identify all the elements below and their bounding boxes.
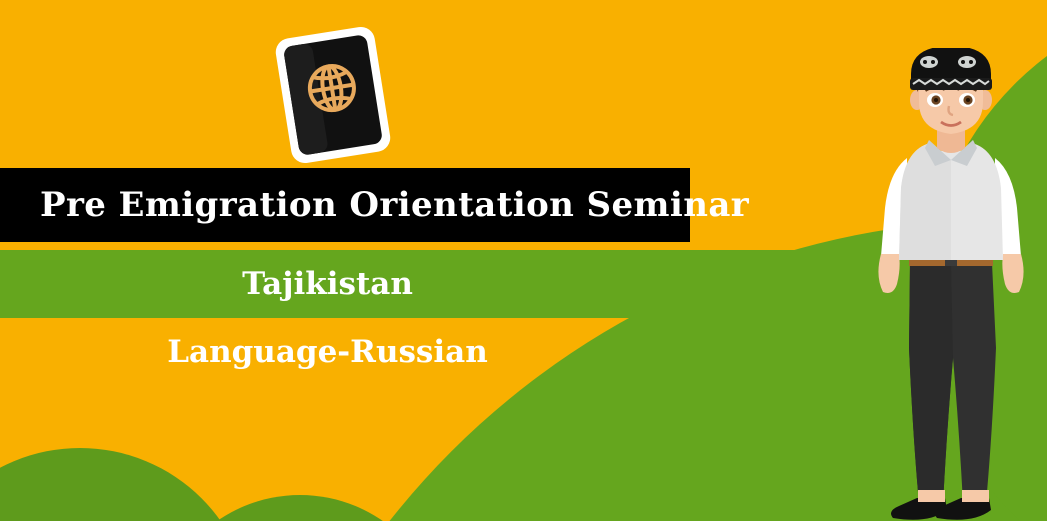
- character-pants: [909, 263, 996, 503]
- passport-icon: [271, 23, 394, 168]
- tajik-man-illustration: [855, 48, 1047, 521]
- title-banner: Pre Emigration Orientation Seminar: [0, 168, 690, 242]
- tubeteika-cap-icon: [910, 48, 992, 90]
- poster-canvas: Pre Emigration Orientation Seminar Tajik…: [0, 0, 1047, 521]
- character-ankles: [918, 490, 989, 502]
- country-label: Tajikistan: [0, 266, 655, 302]
- language-label: Language-Russian: [0, 334, 655, 370]
- title-underline-strip: [0, 242, 690, 250]
- poster-title: Pre Emigration Orientation Seminar: [0, 185, 749, 225]
- character-vest: [899, 144, 1003, 260]
